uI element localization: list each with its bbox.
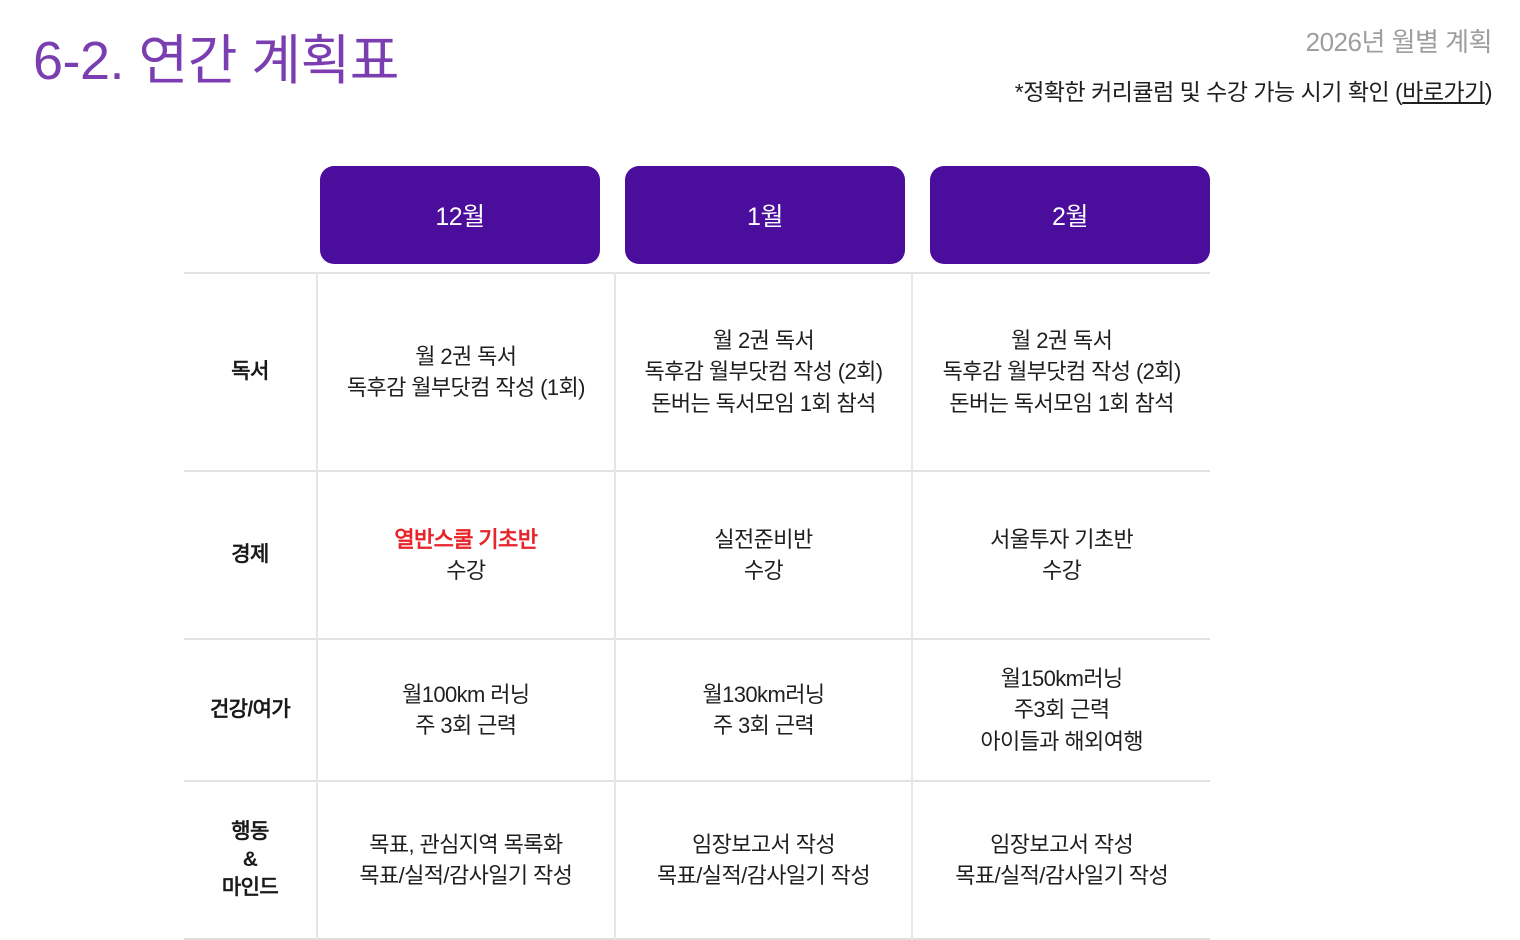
cell-economy-january: 실전준비반 수강 [615,471,913,639]
cell-line: 아이들과 해외여행 [921,726,1202,757]
row-label-line: & [243,848,258,871]
cell-line: 목표/실적/감사일기 작성 [326,860,606,891]
table-row: 건강/여가 월100km 러닝 주 3회 근력 월130km러닝 주 3회 근력… [184,639,1210,781]
cell-line: 월150km러닝 [921,663,1202,694]
cell-line: 수강 [624,555,904,586]
slide-header: 6-2. 연간 계획표 2026년 월별 계획 *정확한 커리큘럼 및 수강 가… [0,0,1520,150]
cell-health-february: 월150km러닝 주3회 근력 아이들과 해외여행 [912,639,1210,781]
cell-line: 월 2권 독서 [921,325,1202,356]
cell-line: 주3회 근력 [921,694,1202,725]
cell-line: 수강 [326,555,606,586]
month-card-january[interactable]: 1월 [625,166,905,264]
row-label-health-leisure: 건강/여가 [184,639,317,781]
table-row: 행동 & 마인드 목표, 관심지역 목록화 목표/실적/감사일기 작성 임장보고… [184,781,1210,939]
row-label-action-mind: 행동 & 마인드 [184,781,317,939]
month-card-february[interactable]: 2월 [930,166,1210,264]
cell-line: 임장보고서 작성 [624,829,904,860]
cell-line: 목표, 관심지역 목록화 [326,829,606,860]
cell-line: 독후감 월부닷컴 작성 (2회) [921,356,1202,387]
cell-line: 수강 [921,555,1202,586]
cell-line: 돈버는 독서모임 1회 참석 [921,388,1202,419]
month-header-row: 12월 1월 2월 [320,166,1210,264]
cell-health-december: 월100km 러닝 주 3회 근력 [317,639,615,781]
cell-action-february: 임장보고서 작성 목표/실적/감사일기 작성 [912,781,1210,939]
table-row: 경제 열반스쿨 기초반 수강 실전준비반 수강 서울투자 기초반 수강 [184,471,1210,639]
row-label-economy: 경제 [184,471,317,639]
cell-action-december: 목표, 관심지역 목록화 목표/실적/감사일기 작성 [317,781,615,939]
row-label-line: 마인드 [222,876,278,899]
cell-reading-february: 월 2권 독서 독후감 월부닷컴 작성 (2회) 돈버는 독서모임 1회 참석 [912,273,1210,471]
header-note: *정확한 커리큘럼 및 수강 가능 시기 확인 (바로가기) [1015,73,1492,107]
cell-line: 독후감 월부닷컴 작성 (2회) [624,356,904,387]
cell-line: 독후감 월부닷컴 작성 (1회) [326,372,606,403]
row-label-line: 건강/여가 [210,698,290,721]
cell-reading-december: 월 2권 독서 독후감 월부닷컴 작성 (1회) [317,273,615,471]
cell-line: 월 2권 독서 [326,341,606,372]
header-right-block: 2026년 월별 계획 *정확한 커리큘럼 및 수강 가능 시기 확인 (바로가… [1015,22,1492,107]
page-title: 6-2. 연간 계획표 [33,16,399,95]
cell-action-january: 임장보고서 작성 목표/실적/감사일기 작성 [615,781,913,939]
cell-line: 월 2권 독서 [624,325,904,356]
cell-line: 주 3회 근력 [326,710,606,741]
cell-line: 서울투자 기초반 [921,524,1202,555]
cell-line: 월100km 러닝 [326,679,606,710]
cell-line: 주 3회 근력 [624,710,904,741]
cell-line: 목표/실적/감사일기 작성 [921,860,1202,891]
header-note-suffix: ) [1485,79,1492,105]
row-label-reading: 독서 [184,273,317,471]
cell-line: 돈버는 독서모임 1회 참석 [624,388,904,419]
table-row: 독서 월 2권 독서 독후감 월부닷컴 작성 (1회) 월 2권 독서 독후감 … [184,273,1210,471]
cell-reading-january: 월 2권 독서 독후감 월부닷컴 작성 (2회) 돈버는 독서모임 1회 참석 [615,273,913,471]
row-label-line: 행동 [231,820,268,843]
cell-line: 실전준비반 [624,524,904,555]
cell-line: 월130km러닝 [624,679,904,710]
curriculum-link[interactable]: 바로가기 [1402,79,1485,105]
cell-line: 임장보고서 작성 [921,829,1202,860]
cell-line-highlighted: 열반스쿨 기초반 [326,524,606,555]
row-label-line: 독서 [231,360,268,383]
cell-health-january: 월130km러닝 주 3회 근력 [615,639,913,781]
row-label-line: 경제 [231,543,268,566]
month-card-december[interactable]: 12월 [320,166,600,264]
header-note-prefix: *정확한 커리큘럼 및 수강 가능 시기 확인 ( [1015,79,1402,105]
cell-economy-february: 서울투자 기초반 수강 [912,471,1210,639]
cell-line: 목표/실적/감사일기 작성 [624,860,904,891]
cell-economy-december: 열반스쿨 기초반 수강 [317,471,615,639]
header-subtitle: 2026년 월별 계획 [1015,22,1492,59]
annual-plan-table: 독서 월 2권 독서 독후감 월부닷컴 작성 (1회) 월 2권 독서 독후감 … [184,272,1210,940]
